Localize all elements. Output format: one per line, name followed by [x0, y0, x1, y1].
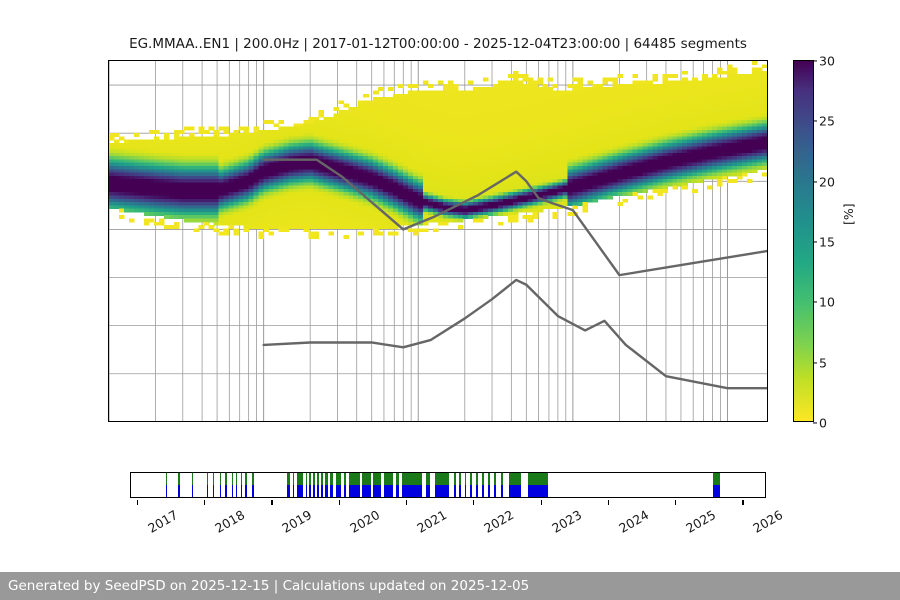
- timeline-segment: [325, 473, 328, 497]
- colorbar-tick-mark: [813, 181, 817, 182]
- timeline-segment: [232, 473, 233, 497]
- colorbar-tick-label: 20: [819, 174, 835, 189]
- timeline-year-label: 2026: [751, 507, 786, 536]
- psd-figure: EG.MMAA..EN1 | 200.0Hz | 2017-01-12T00:0…: [0, 0, 900, 600]
- timeline-segment: [245, 473, 246, 497]
- timeline-segment: [178, 473, 179, 497]
- timeline-segment: [225, 473, 226, 497]
- timeline-year-label: 2021: [414, 507, 449, 536]
- data-availability-timeline[interactable]: [130, 472, 766, 498]
- colorbar-tick-mark: [813, 422, 817, 423]
- timeline-segment: [488, 473, 490, 497]
- timeline-tick-mark: [675, 500, 676, 505]
- timeline-segment: [306, 473, 307, 497]
- colorbar-label: [%]: [841, 203, 856, 225]
- timeline-segment: [435, 473, 448, 497]
- colorbar-tick-mark: [813, 241, 817, 242]
- timeline-year-label: 2017: [145, 507, 180, 536]
- timeline-segment: [494, 473, 496, 497]
- timeline-segment: [459, 473, 460, 497]
- timeline-segment: [373, 473, 381, 497]
- timeline-year-label: 2019: [280, 507, 315, 536]
- page-title: EG.MMAA..EN1 | 200.0Hz | 2017-01-12T00:0…: [108, 36, 768, 52]
- timeline-year-label: 2023: [549, 507, 584, 536]
- timeline-segment: [287, 473, 290, 497]
- timeline-year-label: 2024: [616, 507, 651, 536]
- timeline-segment: [349, 473, 360, 497]
- timeline-segment: [192, 473, 193, 497]
- colorbar-tick-mark: [813, 60, 817, 61]
- colorbar-tick-label: 10: [819, 295, 835, 310]
- timeline-segment: [470, 473, 472, 497]
- colorbar-tick-label: 30: [819, 54, 835, 69]
- footer-bar: Generated by SeedPSD on 2025-12-15 | Cal…: [0, 572, 900, 600]
- footer-text: Generated by SeedPSD on 2025-12-15 | Cal…: [8, 578, 529, 594]
- timeline-segment: [396, 473, 399, 497]
- timeline-segment: [293, 473, 294, 497]
- timeline-segment: [384, 473, 393, 497]
- timeline-tick-mark: [339, 500, 340, 505]
- timeline-tick-mark: [137, 500, 138, 505]
- timeline-segment: [297, 473, 304, 497]
- timeline-segment: [220, 473, 221, 497]
- timeline-segment: [482, 473, 483, 497]
- timeline-segment: [236, 473, 237, 497]
- timeline-segment: [321, 473, 322, 497]
- timeline-segment: [313, 473, 316, 497]
- timeline-year-label: 2025: [683, 507, 718, 536]
- timeline-segment: [426, 473, 431, 497]
- timeline-segment: [402, 473, 422, 497]
- timeline-year-label: 2018: [212, 507, 247, 536]
- timeline-segment: [509, 473, 521, 497]
- timeline-segment: [330, 473, 333, 497]
- colorbar[interactable]: 051015202530: [793, 60, 814, 422]
- noise-model-curves: [109, 61, 767, 422]
- timeline-segment: [166, 473, 167, 497]
- timeline-tick-mark: [608, 500, 609, 505]
- colorbar-tick-mark: [813, 121, 817, 122]
- timeline-segment: [501, 473, 503, 497]
- colorbar-tick-mark: [813, 362, 817, 363]
- colorbar-tick-label: 25: [819, 114, 835, 129]
- timeline-tick-mark: [204, 500, 205, 505]
- timeline-year-label: 2020: [347, 507, 382, 536]
- timeline-tick-mark: [742, 500, 743, 505]
- timeline-segment: [213, 473, 214, 497]
- timeline-tick-mark: [473, 500, 474, 505]
- colorbar-tick-mark: [813, 302, 817, 303]
- timeline-segment: [465, 473, 466, 497]
- timeline-segment: [241, 473, 242, 497]
- timeline-tick-mark: [541, 500, 542, 505]
- colorbar-tick-label: 0: [819, 416, 827, 431]
- psd-axes[interactable]: −60−80−100−120−140−160−180−200Amplitude …: [108, 60, 768, 422]
- timeline-segment: [454, 473, 456, 497]
- colorbar-tick-label: 15: [819, 235, 835, 250]
- timeline-segment: [336, 473, 341, 497]
- timeline-segment: [476, 473, 478, 497]
- timeline-segment: [713, 473, 720, 497]
- timeline-year-label: 2022: [481, 507, 516, 536]
- timeline-tick-mark: [406, 500, 407, 505]
- timeline-segment: [309, 473, 310, 497]
- timeline-segment: [252, 473, 253, 497]
- colorbar-tick-label: 5: [819, 355, 827, 370]
- timeline-segment: [528, 473, 548, 497]
- timeline-segment: [207, 473, 208, 497]
- timeline-segment: [317, 473, 319, 497]
- timeline-segment: [344, 473, 346, 497]
- timeline-tick-mark: [271, 500, 272, 505]
- timeline-segment: [362, 473, 371, 497]
